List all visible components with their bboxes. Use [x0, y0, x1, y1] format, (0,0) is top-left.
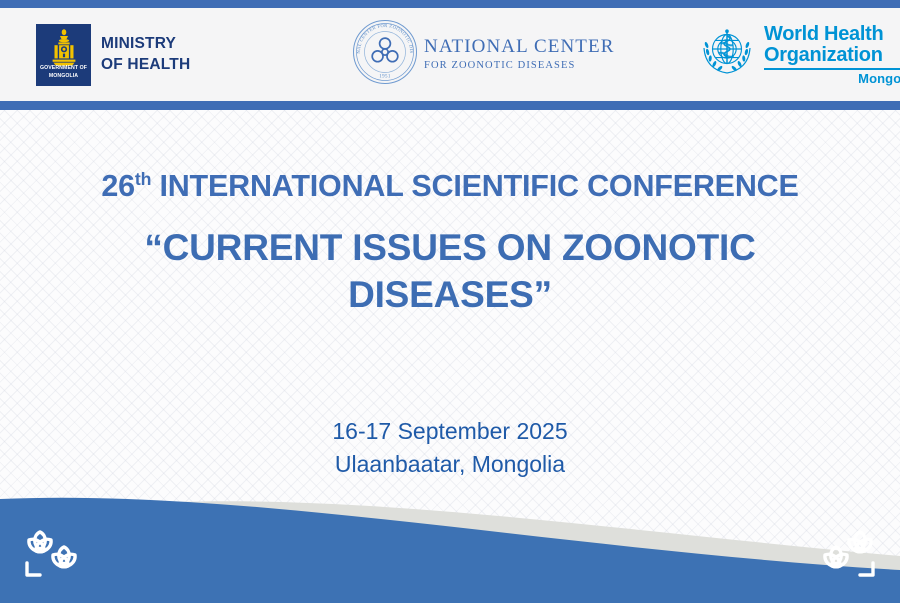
emblem-government-line: GOVERNMENT OF [36, 66, 91, 71]
conference-title: INTERNATIONAL SCIENTIFIC CONFERENCE [151, 169, 798, 203]
who-name-line2: Organization [764, 45, 900, 65]
header-bottom-rule [0, 101, 900, 110]
conference-theme: “CURRENT ISSUES ON ZOONOTIC DISEASES” [0, 224, 900, 319]
conference-heading: 26th INTERNATIONAL SCIENTIFIC CONFERENCE [0, 170, 900, 204]
ministry-of-health-logo: GOVERNMENT OF MONGOLIA MINISTRY OF HEALT… [36, 8, 190, 101]
ministry-name: MINISTRY OF HEALTH [101, 34, 190, 76]
who-name-line1: World Health [764, 24, 900, 44]
zoonotic-seal-icon: NATIONAL CENTER FOR ZOONOTIC DISEASES 19… [352, 19, 418, 90]
emblem-country-line: MONGOLIA [36, 74, 91, 79]
national-center-subtitle: FOR ZOONOTIC DISEASES [424, 60, 614, 72]
conference-ordinal: th [135, 169, 151, 189]
mongolian-knot-icon-right [808, 523, 884, 585]
mongolian-knot-icon-left [16, 523, 92, 585]
ministry-name-line2: OF HEALTH [101, 55, 190, 76]
conference-title-slide: GOVERNMENT OF MONGOLIA MINISTRY OF HEALT… [0, 0, 900, 603]
mongolia-state-emblem: GOVERNMENT OF MONGOLIA [36, 24, 91, 86]
soyombo-icon [36, 28, 91, 68]
bottom-wave-decoration [0, 458, 900, 603]
who-divider [764, 68, 900, 70]
conference-number: 26 [101, 169, 135, 203]
conference-theme-line1: “CURRENT ISSUES ON ZOONOTIC [0, 224, 900, 271]
svg-text:1951: 1951 [379, 75, 391, 80]
ministry-name-line1: MINISTRY [101, 34, 190, 55]
who-emblem-icon [698, 23, 756, 86]
national-center-name-block: NATIONAL CENTER FOR ZOONOTIC DISEASES [424, 37, 614, 71]
who-country-label: Mongolia [764, 72, 900, 85]
national-center-name: NATIONAL CENTER [424, 37, 614, 58]
header-top-rule [0, 0, 900, 8]
who-mongolia-logo: World Health Organization Mongolia [698, 8, 900, 101]
logo-header-band: GOVERNMENT OF MONGOLIA MINISTRY OF HEALT… [0, 8, 900, 101]
headline-block: 26th INTERNATIONAL SCIENTIFIC CONFERENCE… [0, 170, 900, 318]
slide-body: 26th INTERNATIONAL SCIENTIFIC CONFERENCE… [0, 110, 900, 603]
who-name-block: World Health Organization Mongolia [764, 24, 900, 85]
national-center-zoonotic-diseases-logo: NATIONAL CENTER FOR ZOONOTIC DISEASES 19… [352, 8, 614, 101]
conference-theme-line2: DISEASES” [0, 271, 900, 318]
event-dates: 16-17 September 2025 [0, 415, 900, 448]
